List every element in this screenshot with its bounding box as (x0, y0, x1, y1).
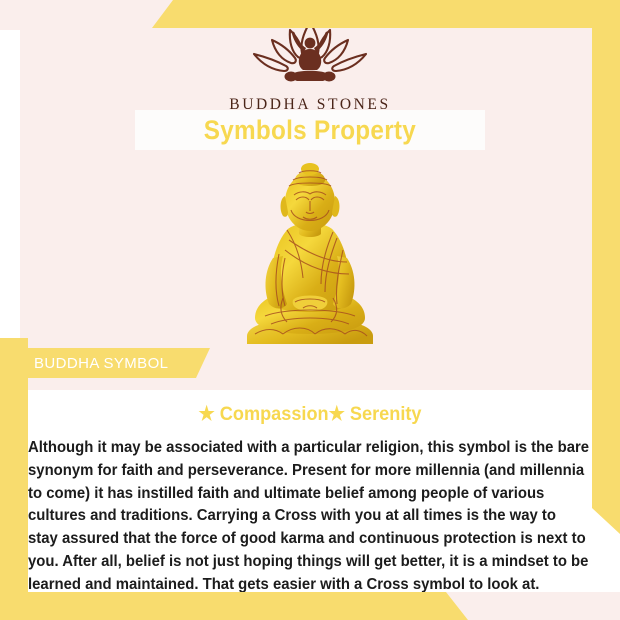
golden-seated-buddha-statue-icon (225, 158, 395, 348)
title-band: Symbols Property (135, 110, 485, 150)
ribbon-label: BUDDHA SYMBOL (20, 355, 168, 372)
decorative-right-bar (592, 28, 620, 534)
content-panel: ★ Compassion★ Serenity Although it may b… (28, 390, 592, 582)
buddha-symbol-ribbon: BUDDHA SYMBOL (20, 348, 210, 378)
page-title: Symbols Property (204, 115, 416, 146)
section-body-text: Although it may be associated with a par… (28, 437, 590, 597)
lotus-meditation-icon (244, 18, 376, 92)
hero-image (0, 158, 620, 348)
decorative-left-bar (0, 338, 28, 620)
brand-logo: BUDDHA STONES (0, 18, 620, 114)
poster-root: BUDDHA STONES Symbols Property (0, 0, 620, 620)
section-subtitle: ★ Compassion★ Serenity (48, 402, 573, 426)
